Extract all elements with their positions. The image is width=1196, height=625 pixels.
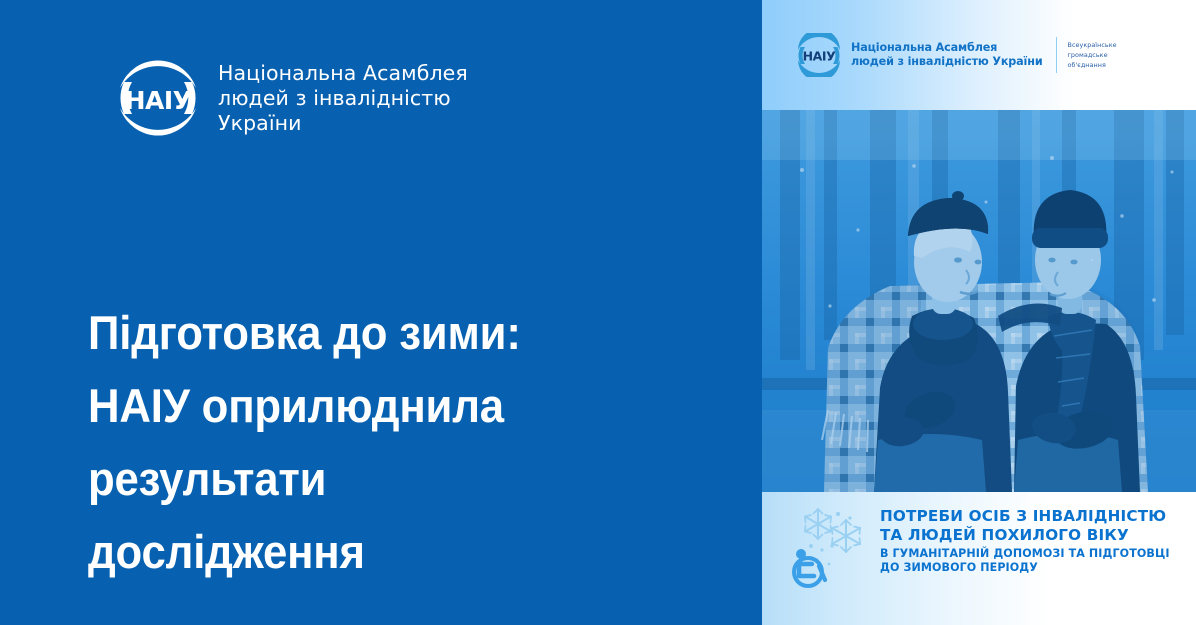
report-cover-poster: НАІУ Національна Асамблея людей з інвалі… bbox=[762, 0, 1196, 625]
naiu-logo-mark-icon: НАІУ bbox=[112, 52, 204, 144]
naiu-organization-name: Національна Асамблея людей з інвалідніст… bbox=[218, 61, 468, 136]
poster-subtitle: В ГУМАНІТАРНІЙ ДОПОМОЗІ ТА ПІДГОТОВЦІ ДО… bbox=[880, 547, 1180, 575]
naiu-logo-lockup: НАІУ Національна Асамблея людей з інвалі… bbox=[112, 52, 468, 144]
wheelchair-accessibility-icon bbox=[794, 549, 825, 586]
footer-icon-group bbox=[788, 502, 880, 590]
header-divider bbox=[1056, 37, 1057, 73]
svg-text:НАІУ: НАІУ bbox=[125, 86, 192, 115]
poster-title-line-1: ПОТРЕБИ ОСІБ З ІНВАЛІДНІСТЮ bbox=[880, 507, 1180, 526]
poster-footer-text: ПОТРЕБИ ОСІБ З ІНВАЛІДНІСТЮ ТА ЛЮДЕЙ ПОХ… bbox=[880, 507, 1180, 575]
svg-text:НАІУ: НАІУ bbox=[803, 49, 837, 64]
poster-logo-lockup: НАІУ Національна Асамблея людей з інвалі… bbox=[794, 33, 1117, 77]
poster-footer: ПОТРЕБИ ОСІБ З ІНВАЛІДНІСТЮ ТА ЛЮДЕЙ ПОХ… bbox=[762, 492, 1196, 625]
poster-organization-name: Національна Асамблея людей з інвалідніст… bbox=[851, 41, 1043, 70]
poster-header: НАІУ Національна Асамблея людей з інвалі… bbox=[762, 0, 1196, 110]
poster-banner: НАІУ Національна Асамблея людей з інвалі… bbox=[0, 0, 1196, 625]
naiu-logo-mark-icon: НАІУ bbox=[794, 33, 844, 77]
poster-title-line-2: ТА ЛЮДЕЙ ПОХИЛОГО ВІКУ bbox=[880, 526, 1180, 545]
poster-photo bbox=[762, 110, 1196, 492]
poster-tagline: Всеукраїнське громадське об'єднання bbox=[1068, 40, 1117, 71]
page-title: Підготовка до зими: НАІУ оприлюднила рез… bbox=[88, 296, 702, 588]
left-panel: НАІУ Національна Асамблея людей з інвалі… bbox=[0, 0, 762, 625]
